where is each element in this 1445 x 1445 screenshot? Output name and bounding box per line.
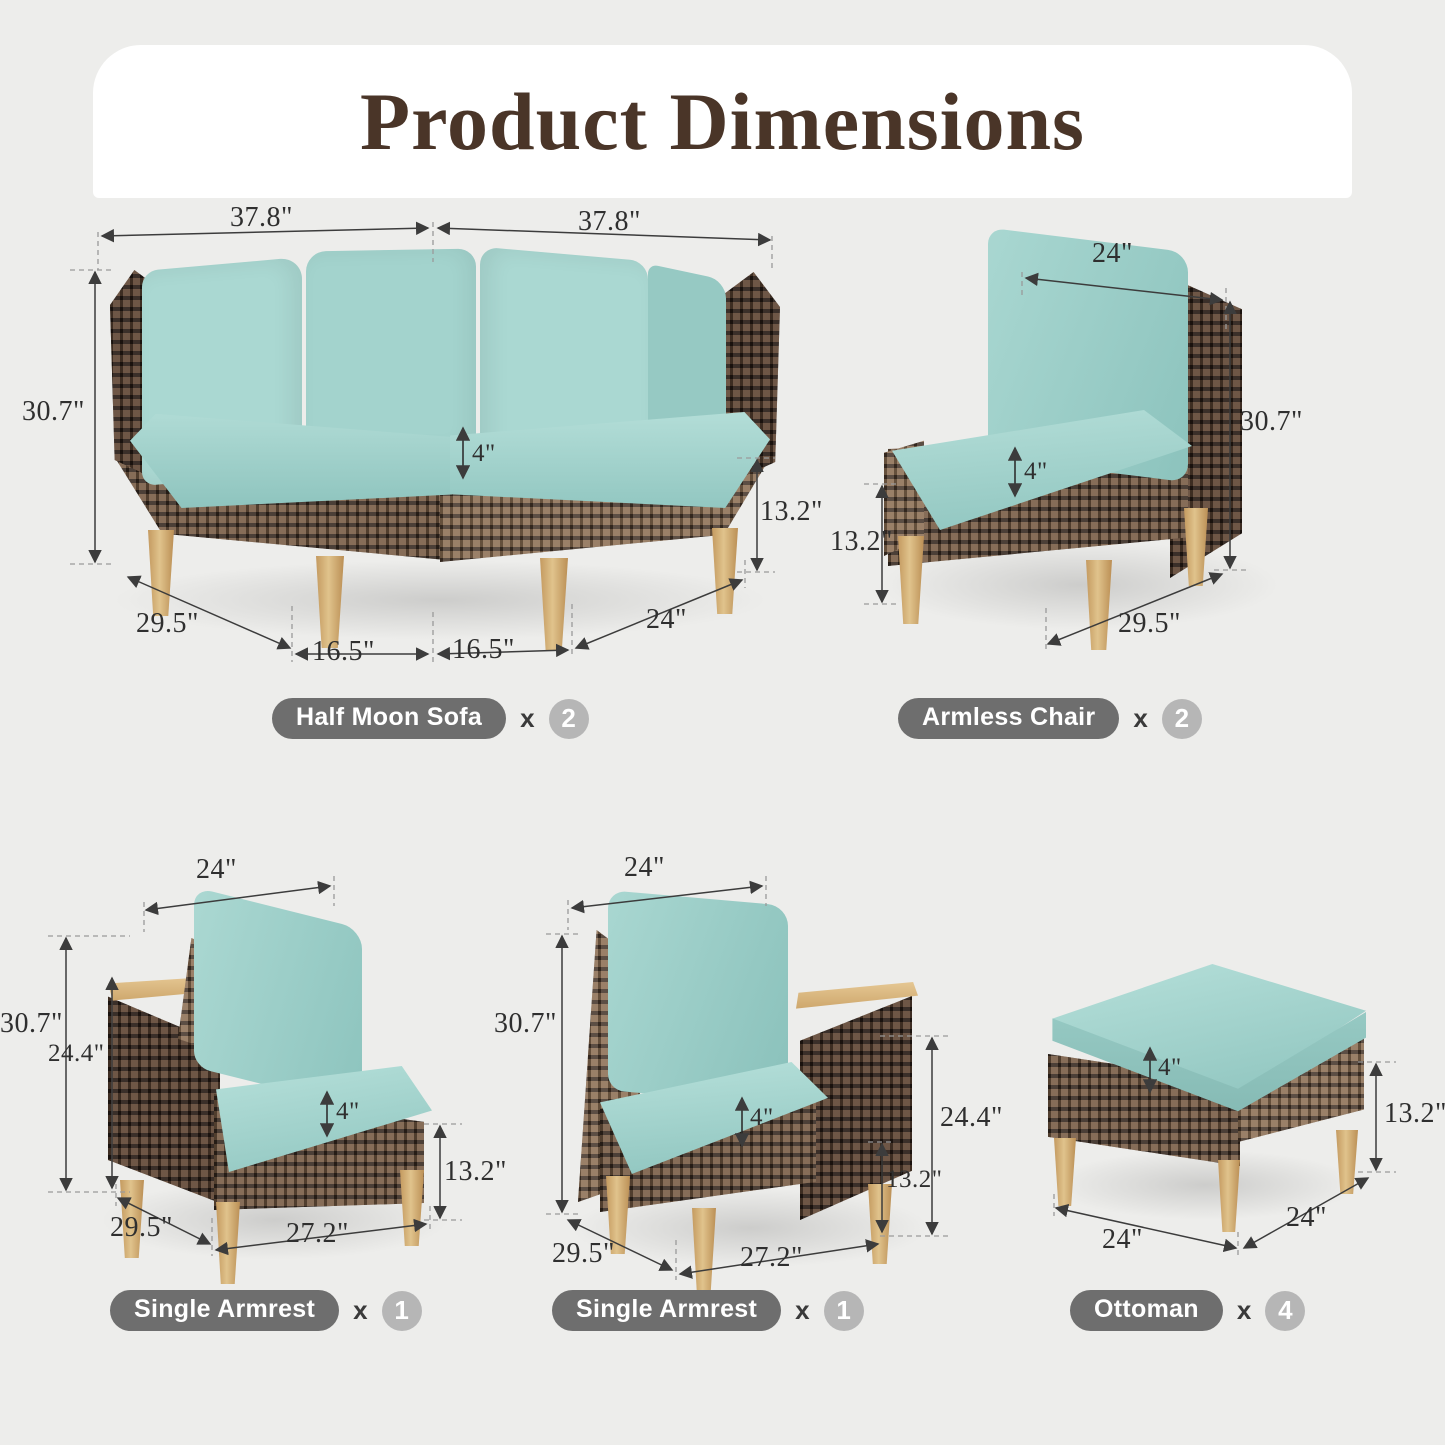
dim-armrest-l-width: 24" xyxy=(196,854,237,886)
ottoman-cushion-side xyxy=(1046,964,1366,1124)
times-symbol: x xyxy=(795,1295,809,1326)
product-name-pill: Single Armrest xyxy=(552,1290,781,1331)
dim-armrest-l-depth: 29.5" xyxy=(110,1212,173,1244)
dim-armrest-l-arm-height: 24.4" xyxy=(48,1040,104,1068)
times-symbol: x xyxy=(1237,1295,1251,1326)
sofa-seat-cushion-right xyxy=(450,410,770,508)
product-name-pill: Half Moon Sofa xyxy=(272,698,506,739)
product-single-armrest-left: 24" 30.7" 24.4" 4" 13.2" 29.5" 27.2" Sin… xyxy=(0,820,500,1440)
dim-armrest-r-seat-height: 13.2" xyxy=(886,1166,942,1194)
dim-sofa-cushion: 4" xyxy=(472,440,496,468)
sofa-seat-cushion-left xyxy=(130,412,452,508)
label-half-moon-sofa: Half Moon Sofa x 2 xyxy=(272,698,589,739)
dim-ottoman-height: 13.2" xyxy=(1384,1098,1445,1130)
quantity-badge: 4 xyxy=(1265,1291,1305,1331)
times-symbol: x xyxy=(520,703,534,734)
dim-sofa-bottom-depth: 24" xyxy=(646,604,687,636)
label-ottoman: Ottoman x 4 xyxy=(1070,1290,1305,1331)
dim-armrest-l-height: 30.7" xyxy=(0,1008,63,1040)
product-single-armrest-right: 24" 30.7" 24.4" 4" 13.2" 29.5" 27.2" Sin… xyxy=(490,820,1000,1440)
dim-armrest-r-height: 30.7" xyxy=(494,1008,557,1040)
times-symbol: x xyxy=(353,1295,367,1326)
dim-ottoman-width: 24" xyxy=(1102,1224,1143,1256)
dim-armless-width: 24" xyxy=(1092,238,1133,270)
dim-sofa-height: 30.7" xyxy=(22,396,85,428)
dim-sofa-top-right-width: 37.8" xyxy=(578,206,641,238)
ottoman-leg-2 xyxy=(1218,1160,1240,1232)
dim-armrest-r-arm-height: 24.4" xyxy=(940,1102,1003,1134)
dim-sofa-depth: 29.5" xyxy=(136,608,199,640)
dim-armless-seat-height: 13.2" xyxy=(830,526,893,558)
label-single-armrest-right: Single Armrest x 1 xyxy=(552,1290,864,1331)
armless-chair-illustration xyxy=(870,240,1290,640)
dim-ottoman-depth: 24" xyxy=(1286,1202,1327,1234)
dim-sofa-bottom-right-seg: 16.5" xyxy=(452,634,515,666)
dim-armrest-r-bottom-width: 27.2" xyxy=(740,1242,803,1274)
armrest-right-seat-cushion xyxy=(600,1062,828,1174)
half-moon-sofa-illustration xyxy=(100,240,790,660)
dim-armrest-r-depth: 29.5" xyxy=(552,1238,615,1270)
label-single-armrest-left: Single Armrest x 1 xyxy=(110,1290,422,1331)
chair-leg-front-right xyxy=(1086,560,1112,650)
quantity-badge: 1 xyxy=(824,1291,864,1331)
times-symbol: x xyxy=(1133,703,1147,734)
dim-sofa-bottom-left-seg: 16.5" xyxy=(312,636,375,668)
dim-armless-depth: 29.5" xyxy=(1118,608,1181,640)
product-name-pill: Ottoman xyxy=(1070,1290,1223,1331)
dim-armless-height: 30.7" xyxy=(1240,406,1303,438)
dim-sofa-top-left-width: 37.8" xyxy=(230,202,293,234)
dim-ottoman-cushion: 4" xyxy=(1158,1054,1182,1082)
product-name-pill: Single Armrest xyxy=(110,1290,339,1331)
dim-sofa-seat-height: 13.2" xyxy=(760,496,823,528)
armrest-left-leg-2 xyxy=(216,1202,240,1284)
armrest-right-leg-2 xyxy=(692,1208,716,1292)
dim-armrest-l-cushion: 4" xyxy=(336,1098,360,1126)
dim-armrest-r-cushion: 4" xyxy=(750,1104,774,1132)
quantity-badge: 2 xyxy=(549,699,589,739)
single-armrest-right-illustration xyxy=(560,878,940,1278)
dim-armless-cushion: 4" xyxy=(1024,458,1048,486)
armrest-left-seat-cushion xyxy=(216,1066,432,1172)
ottoman-illustration xyxy=(1040,960,1370,1240)
product-armless-chair: 24" 30.7" 4" 13.2" 29.5" Armless Chair x… xyxy=(830,0,1445,780)
quantity-badge: 1 xyxy=(382,1291,422,1331)
dim-armrest-l-bottom-width: 27.2" xyxy=(286,1218,349,1250)
quantity-badge: 2 xyxy=(1162,699,1202,739)
product-ottoman: 4" 13.2" 24" 24" Ottoman x 4 xyxy=(1000,820,1445,1440)
label-armless-chair: Armless Chair x 2 xyxy=(898,698,1202,739)
dim-armrest-r-width: 24" xyxy=(624,852,665,884)
product-name-pill: Armless Chair xyxy=(898,698,1119,739)
product-half-moon-sofa: 37.8" 37.8" 30.7" 4" 13.2" 29.5" 16.5" 1… xyxy=(0,0,830,780)
